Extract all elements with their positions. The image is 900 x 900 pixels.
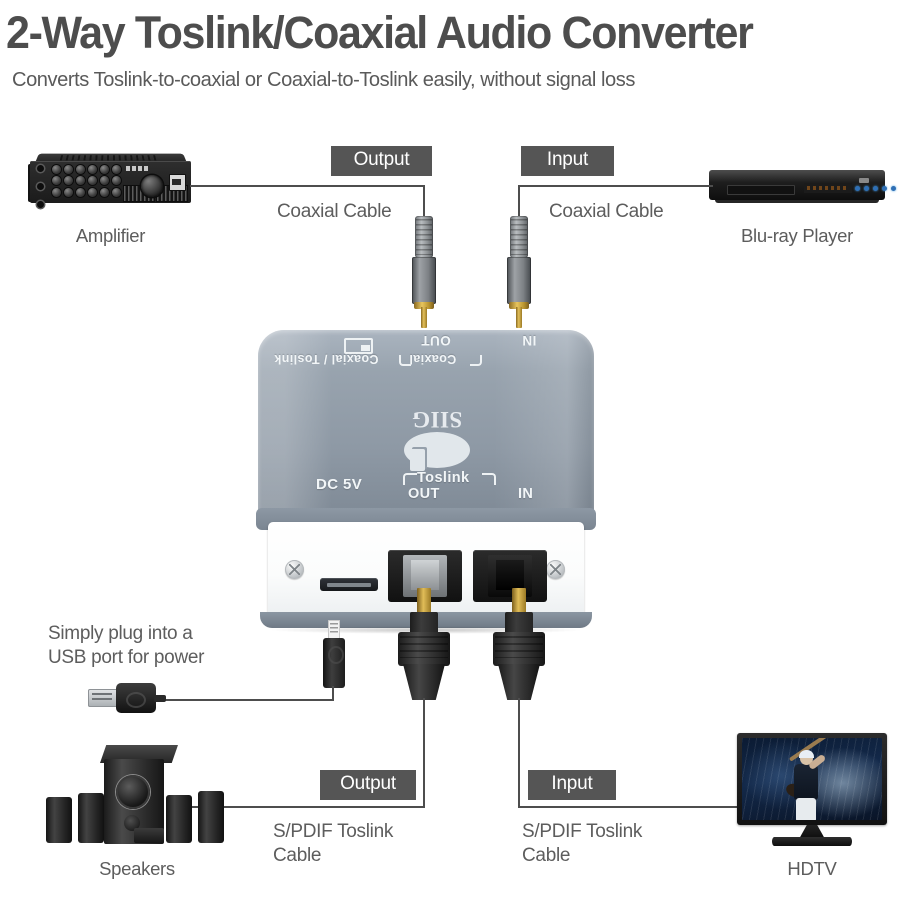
knob-icon <box>88 176 97 185</box>
knob-icon <box>76 165 85 174</box>
toslink-out-inner <box>411 560 439 590</box>
siig-wordmark: SIIG <box>400 406 474 432</box>
toslink-body <box>493 632 545 666</box>
diagram-canvas: 2-Way Toslink/Coaxial Audio Converter Co… <box>0 0 900 900</box>
caption-spdif-input-line1: S/PDIF Toslink <box>522 820 642 843</box>
caption-coaxial-cable-output: Coaxial Cable <box>277 200 391 223</box>
rca-barrel <box>412 257 436 304</box>
bluray-player-label: Blu-ray Player <box>709 225 885 247</box>
amplifier-illustration <box>28 152 193 204</box>
panel-screw-left <box>285 560 304 579</box>
amplifier-vents-icon <box>60 155 159 160</box>
bluray-disc-tray <box>727 185 795 195</box>
center-speaker <box>134 828 164 843</box>
wire-amplifier-to-converter-v <box>423 185 425 218</box>
rca-center-pin <box>516 307 522 328</box>
toslink-neck <box>410 612 438 634</box>
amplifier-volume-dial <box>141 175 163 197</box>
knob-icon <box>52 188 61 197</box>
caption-coaxial-cable-input: Coaxial Cable <box>549 200 663 223</box>
wire-bluray-to-converter-v <box>518 185 520 218</box>
knob-icon <box>112 165 121 174</box>
amplifier-knob-row <box>52 165 121 174</box>
amplifier-power-switch <box>169 174 186 191</box>
toslink-bracket-left <box>403 473 417 485</box>
subwoofer-driver-icon <box>116 775 150 809</box>
amplifier-led-meter-icon <box>126 166 148 171</box>
speakers-label: Speakers <box>42 858 232 880</box>
knob-icon <box>88 188 97 197</box>
tag-output-coaxial: Output <box>331 146 432 176</box>
knob-icon <box>100 188 109 197</box>
toslink-optical-tip <box>512 588 526 614</box>
micro-usb-port[interactable] <box>320 578 378 591</box>
wire-amplifier-to-converter-h <box>190 185 425 187</box>
bluray-base <box>715 200 879 203</box>
rca-strain-relief <box>510 216 528 258</box>
device-dc5v-label: DC 5V <box>316 476 362 493</box>
usb-a-metal-shell <box>88 689 118 707</box>
toslink-optical-tip <box>417 588 431 614</box>
device-coaxial-out-label: OUT <box>421 333 451 348</box>
tag-output-toslink: Output <box>320 770 416 800</box>
amplifier-knob-row <box>52 176 121 185</box>
figure-legs <box>796 798 816 820</box>
speaker-system-illustration <box>42 735 232 855</box>
knob-icon <box>52 165 61 174</box>
audio-jack-icon <box>37 201 44 208</box>
power-note-line1: Simply plug into a <box>48 622 193 645</box>
wire-toslink-input-h <box>518 806 741 808</box>
tag-input-toslink: Input <box>528 770 616 800</box>
device-top-shell: Coaxial / Toslink Coaxial OUT IN SIIG DC… <box>258 330 594 520</box>
toslink-in-inner <box>496 560 524 590</box>
toslink-bracket-right <box>482 473 496 485</box>
rca-plug-output <box>409 216 439 326</box>
toslink-plug-output <box>394 588 454 706</box>
satellite-speaker <box>166 795 192 843</box>
knob-icon <box>76 188 85 197</box>
hdtv-screen <box>742 738 882 820</box>
knob-icon <box>112 176 121 185</box>
bluray-button-row <box>855 186 896 191</box>
micro-usb-plug <box>321 620 347 692</box>
micro-usb-body <box>323 638 345 688</box>
knob-icon <box>88 165 97 174</box>
wire-usb-horizontal <box>160 699 334 701</box>
device-toslink-group-label: Toslink <box>417 470 469 486</box>
rca-strain-relief <box>415 216 433 258</box>
siig-oval-mark <box>404 432 470 468</box>
rca-plug-input <box>504 216 534 326</box>
hdtv-stand-base <box>772 837 852 846</box>
coaxial-bracket-left <box>399 355 411 366</box>
audio-jack-icon <box>37 165 44 172</box>
siig-notch-mark <box>410 449 425 471</box>
wire-toslink-input-v <box>518 698 520 808</box>
toslink-plug-input <box>489 588 549 706</box>
coaxial-bracket-right <box>470 355 482 366</box>
satellite-speaker <box>78 793 104 843</box>
wire-toslink-output-v <box>423 698 425 808</box>
hdtv-bezel <box>737 733 887 825</box>
audio-jack-icon <box>37 183 44 190</box>
figure-torso <box>794 764 818 800</box>
micro-usb-tip <box>328 620 340 640</box>
page-subtitle: Converts Toslink-to-coaxial or Coaxial-t… <box>12 68 874 92</box>
knob-icon <box>64 176 73 185</box>
amplifier-jack-column <box>37 165 44 208</box>
amplifier-label: Amplifier <box>28 225 193 247</box>
bluray-player-illustration <box>709 170 885 206</box>
satellite-speaker <box>198 791 224 843</box>
amplifier-front-face <box>30 161 191 203</box>
hdtv-illustration <box>737 733 887 855</box>
toslink-strain-relief <box>498 664 540 700</box>
usb-a-overmold <box>116 683 156 713</box>
knob-icon <box>100 165 109 174</box>
toslink-neck <box>505 612 533 634</box>
toslink-body <box>398 632 450 666</box>
panel-screw-right <box>546 560 565 579</box>
knob-icon <box>64 188 73 197</box>
knob-icon <box>76 176 85 185</box>
hdtv-label: HDTV <box>737 858 887 880</box>
device-toslink-in-label: IN <box>518 486 533 502</box>
knob-icon <box>64 165 73 174</box>
toslink-strain-relief <box>403 664 445 700</box>
device-toslink-out-label: OUT <box>408 486 440 502</box>
device-coaxial-group-label: Coaxial <box>409 352 456 366</box>
wire-bluray-to-converter-h <box>518 185 713 187</box>
hdtv-guitarist-figure <box>788 752 828 820</box>
usb-a-plug <box>88 683 164 713</box>
caption-spdif-output-line1: S/PDIF Toslink <box>273 820 393 843</box>
figure-headband <box>799 750 814 758</box>
tag-input-coaxial: Input <box>521 146 614 176</box>
knob-icon <box>112 188 121 197</box>
rca-center-pin <box>421 307 427 328</box>
knob-icon <box>100 176 109 185</box>
rca-barrel <box>507 257 531 304</box>
power-note-line2: USB port for power <box>48 646 204 669</box>
device-switch-label: Coaxial / Toslink <box>274 352 379 366</box>
caption-spdif-output-line2: Cable <box>273 844 321 867</box>
satellite-speaker <box>46 797 72 843</box>
knob-icon <box>52 176 61 185</box>
device-coaxial-in-label: IN <box>522 333 536 348</box>
bluray-display <box>804 183 852 193</box>
page-title: 2-Way Toslink/Coaxial Audio Converter <box>6 8 856 58</box>
bluray-usb-port-icon <box>859 178 869 183</box>
caption-spdif-input-line2: Cable <box>522 844 570 867</box>
amplifier-knob-row <box>52 188 121 197</box>
usb-a-strain-relief <box>154 695 166 702</box>
siig-logo: SIIG <box>400 382 474 468</box>
